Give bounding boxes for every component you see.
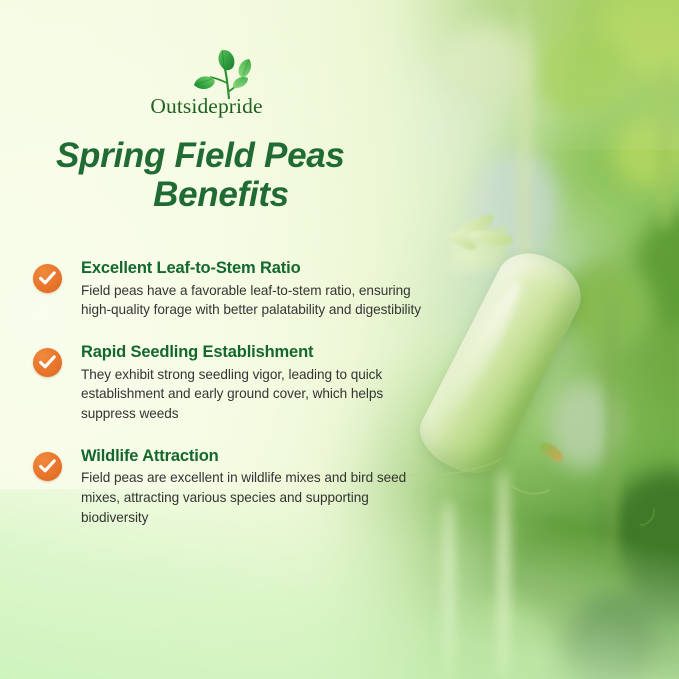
infographic-card: Outsidepride Spring Field Peas Benefits …: [0, 0, 679, 679]
list-item: Rapid Seedling Establishment They exhibi…: [33, 342, 423, 424]
list-item: Excellent Leaf-to-Stem Ratio Field peas …: [33, 258, 423, 320]
benefit-body: They exhibit strong seedling vigor, lead…: [81, 365, 423, 424]
title-line-1: Spring Field Peas: [56, 136, 345, 175]
benefit-title: Excellent Leaf-to-Stem Ratio: [81, 258, 423, 279]
benefit-title: Wildlife Attraction: [81, 446, 423, 467]
brand-name: Outsidepride: [139, 96, 274, 118]
brand-logo[interactable]: Outsidepride: [139, 48, 274, 120]
page-title: Spring Field Peas Benefits: [56, 136, 386, 214]
check-circle-icon: [33, 348, 62, 377]
check-circle-icon: [33, 452, 62, 481]
check-circle-icon: [33, 264, 62, 293]
leaf-sprout-icon: [191, 48, 263, 100]
benefit-body: Field peas are excellent in wildlife mix…: [81, 468, 423, 527]
benefits-list: Excellent Leaf-to-Stem Ratio Field peas …: [33, 258, 423, 528]
list-item: Wildlife Attraction Field peas are excel…: [33, 446, 423, 528]
benefit-body: Field peas have a favorable leaf-to-stem…: [81, 281, 423, 320]
title-line-2: Benefits: [56, 175, 386, 214]
benefit-title: Rapid Seedling Establishment: [81, 342, 423, 363]
content-layer: Outsidepride Spring Field Peas Benefits …: [0, 0, 679, 679]
